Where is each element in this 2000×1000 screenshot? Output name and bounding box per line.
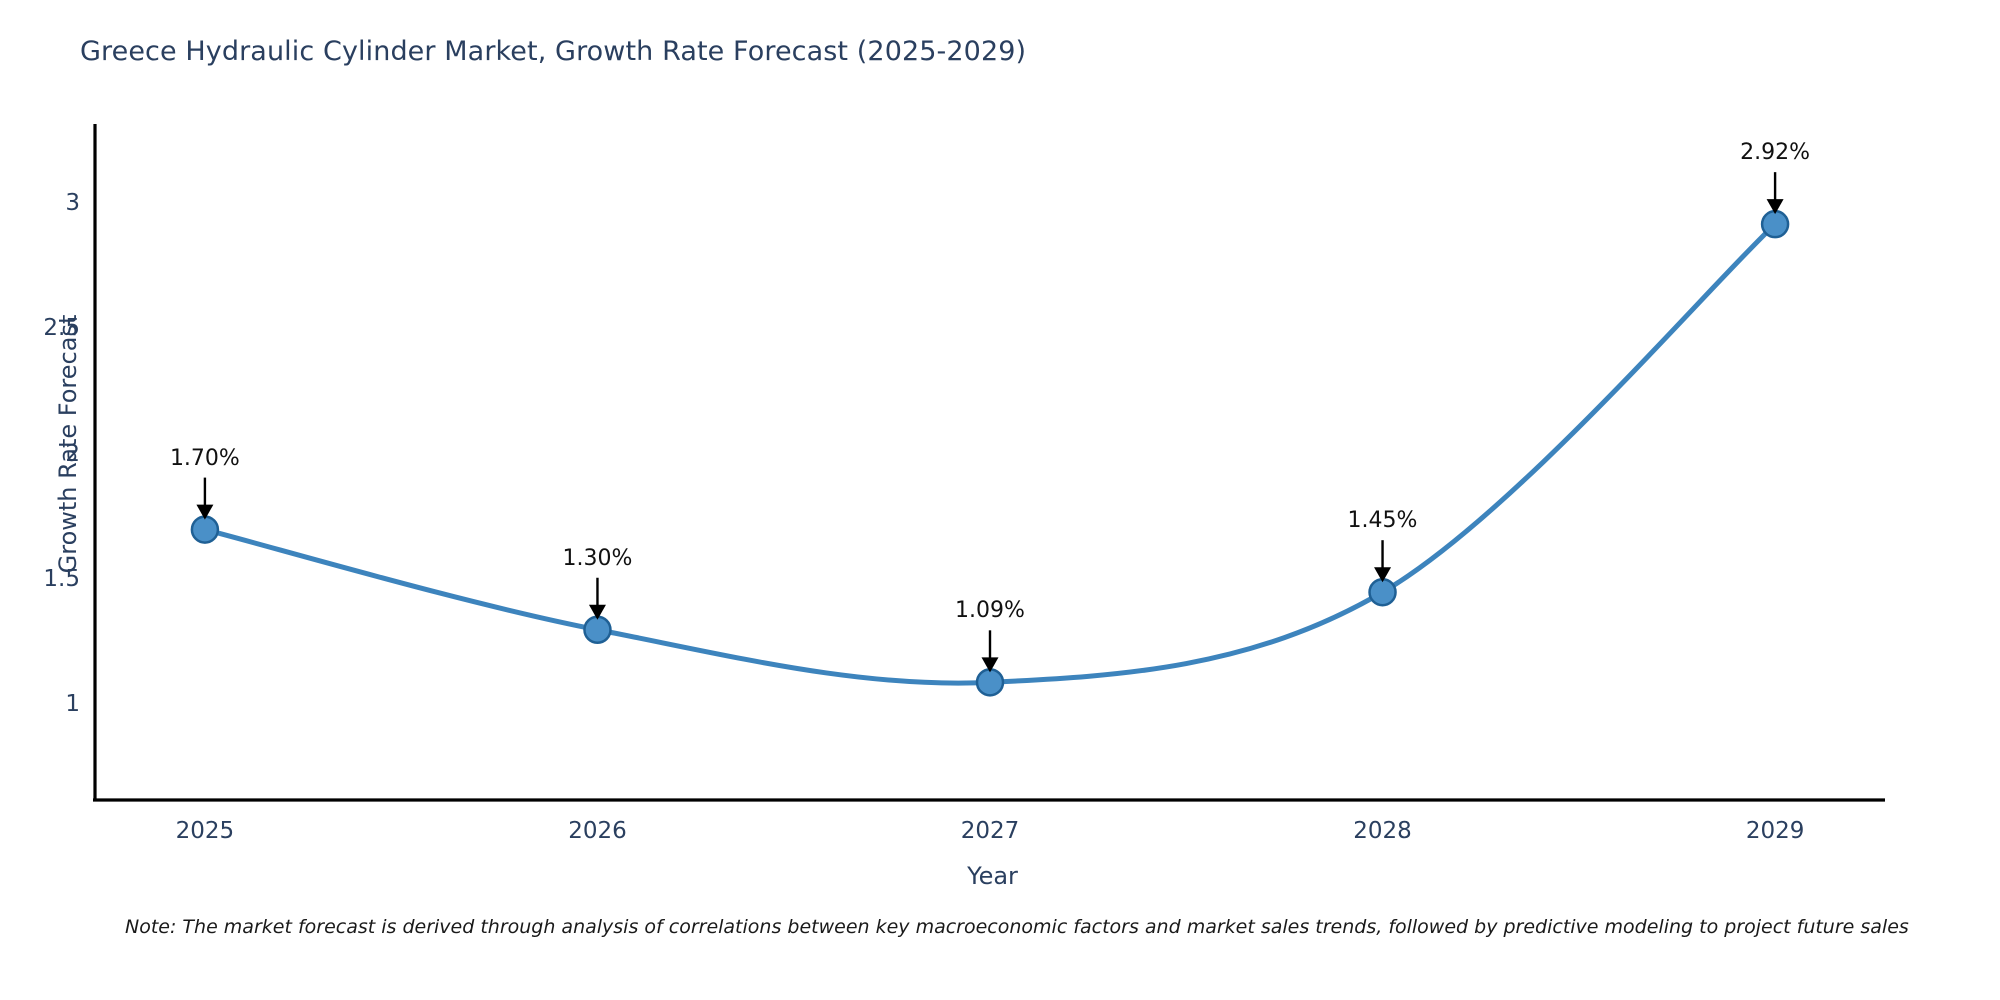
data-point-label: 2.92%	[1685, 140, 1865, 165]
x-tick-label: 2026	[528, 818, 668, 844]
y-tick-label: 2	[10, 441, 80, 467]
footnote: Note: The market forecast is derived thr…	[125, 916, 1909, 938]
data-point-marker[interactable]	[977, 669, 1003, 695]
x-tick-label: 2025	[135, 818, 275, 844]
y-tick-label: 3	[10, 190, 80, 216]
x-tick-label: 2027	[920, 818, 1060, 844]
x-tick-label: 2028	[1313, 818, 1453, 844]
y-tick-label: 1	[10, 691, 80, 717]
x-tick-label: 2029	[1705, 818, 1845, 844]
data-point-label: 1.30%	[508, 546, 688, 571]
y-tick-label: 1.5	[10, 566, 80, 592]
data-point-label: 1.45%	[1293, 508, 1473, 533]
data-point-label: 1.09%	[900, 598, 1080, 623]
x-axis-title: Year	[0, 862, 1985, 890]
data-point-marker[interactable]	[1762, 211, 1788, 237]
y-tick-label: 2.5	[10, 315, 80, 341]
data-point-marker[interactable]	[192, 517, 218, 543]
chart-figure: Greece Hydraulic Cylinder Market, Growth…	[0, 0, 2000, 1000]
annotation-arrows-group	[196, 172, 1783, 672]
data-point-marker[interactable]	[1370, 579, 1396, 605]
data-point-label: 1.70%	[115, 446, 295, 471]
data-point-marker[interactable]	[584, 617, 610, 643]
